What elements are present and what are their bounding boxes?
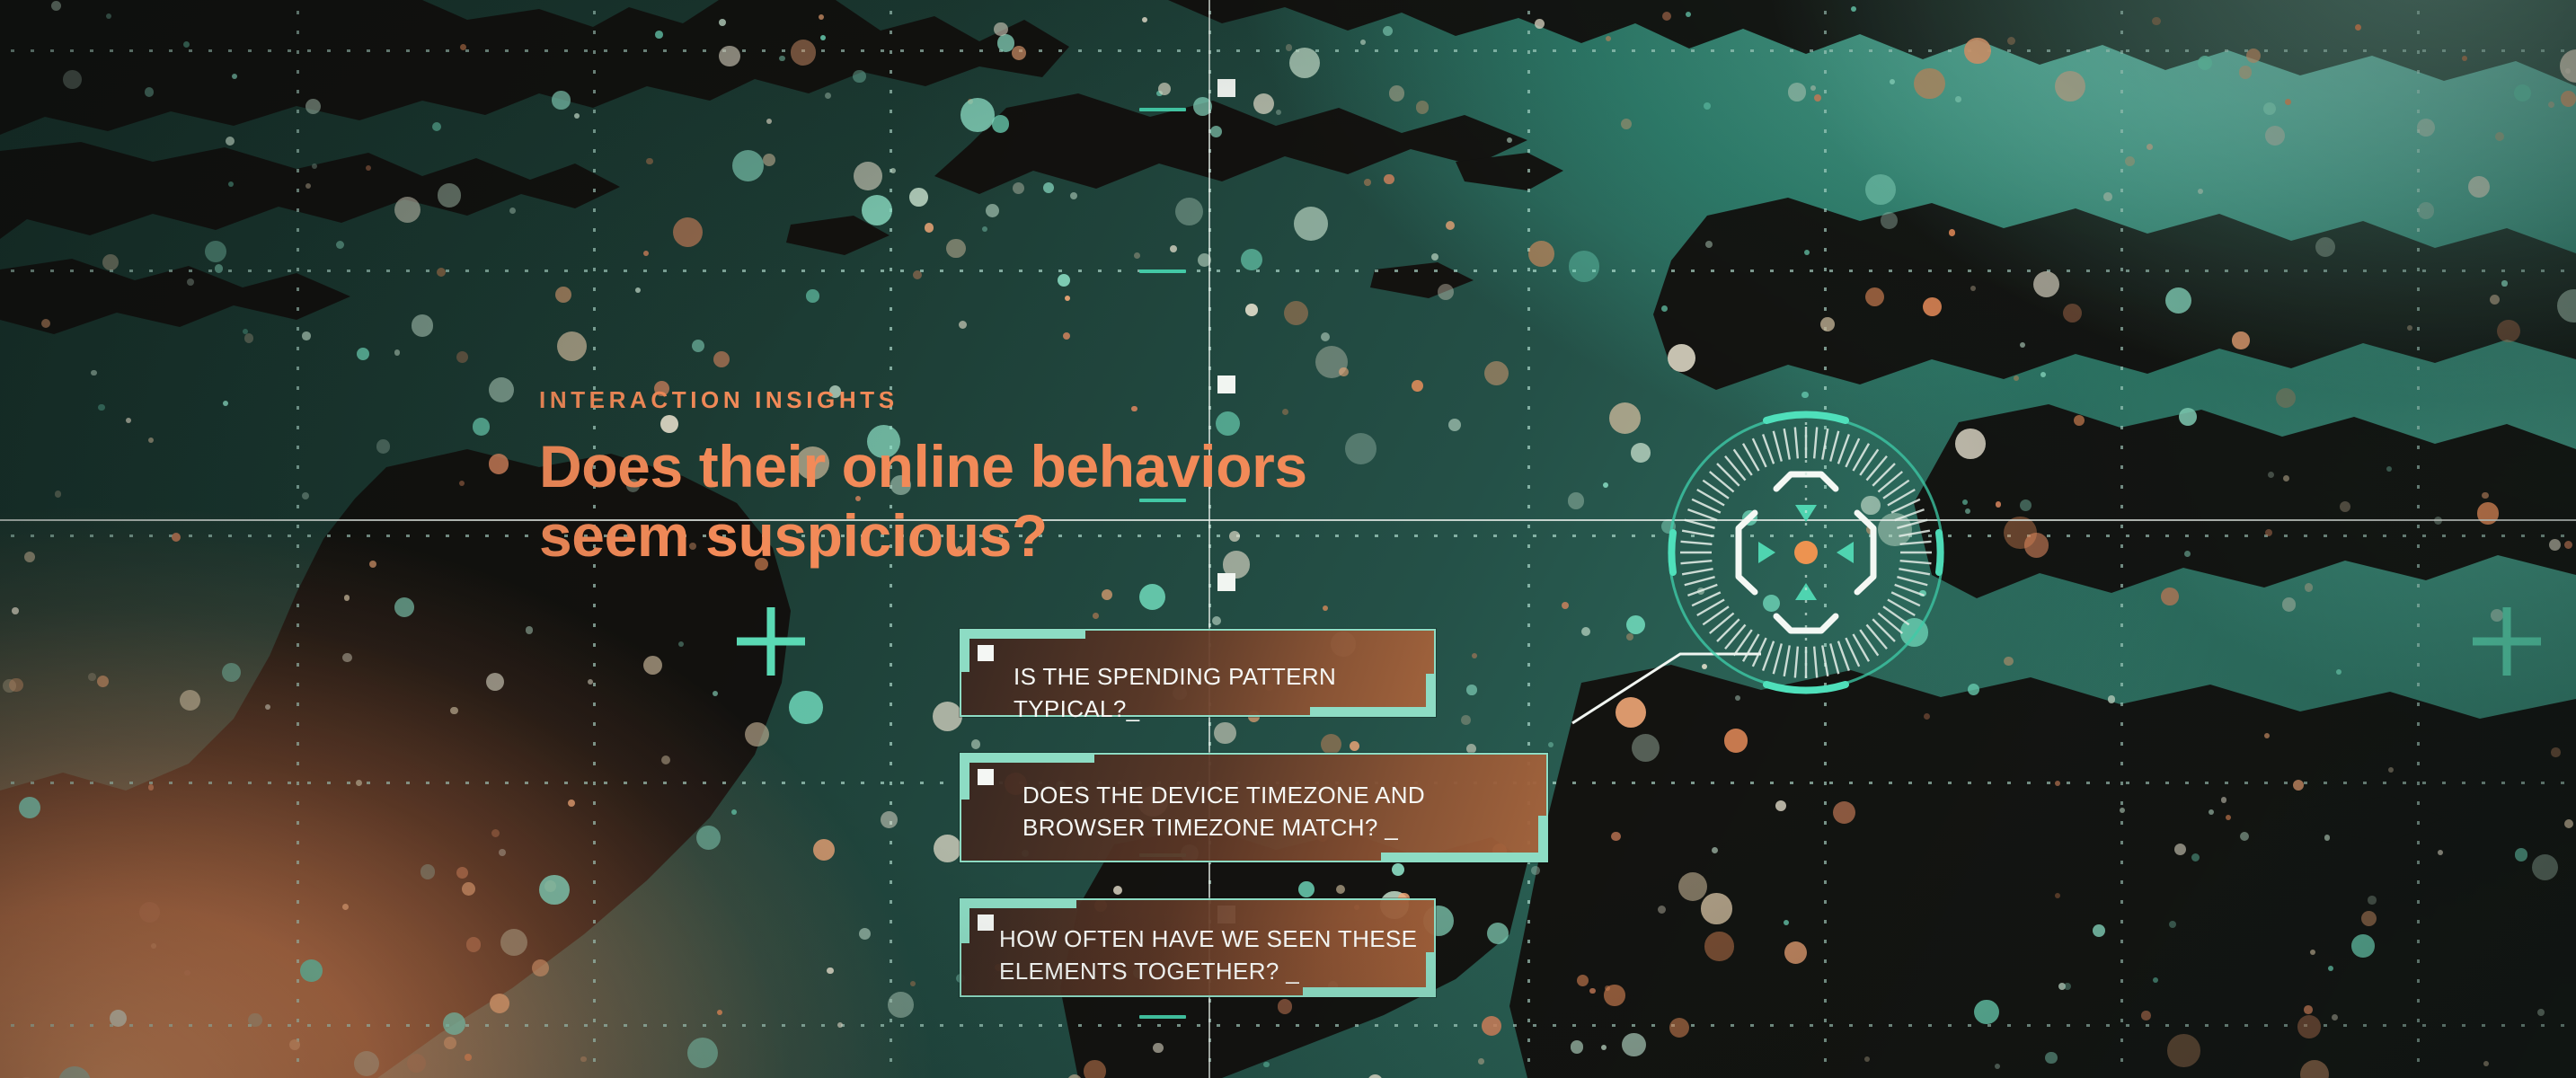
scene-canvas: INTERACTION INSIGHTS Does their online b… [0,0,2576,1078]
edge-vignette [0,0,2576,1078]
